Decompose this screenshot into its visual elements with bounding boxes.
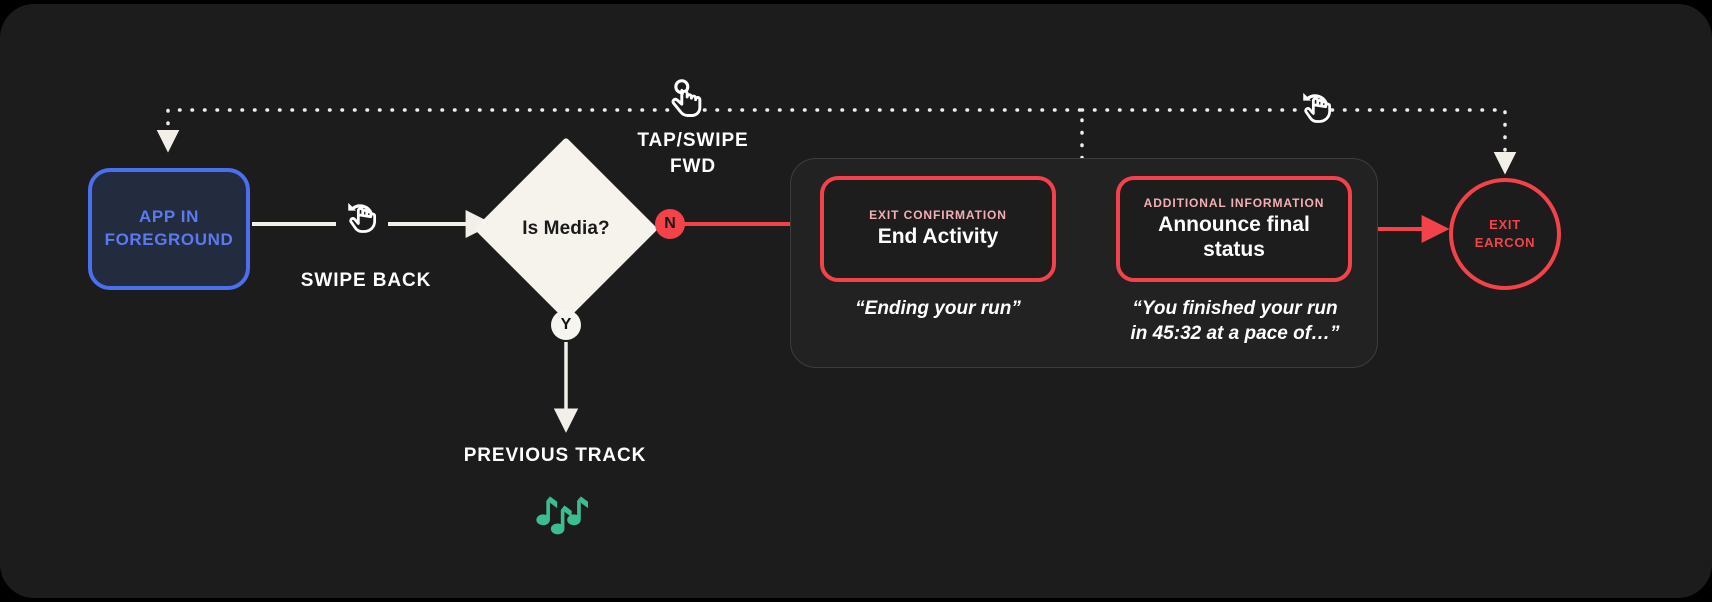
swipe-back-gesture-return-icon bbox=[1295, 86, 1339, 130]
card-exit-confirmation-kicker: EXIT CONFIRMATION bbox=[869, 208, 1007, 222]
tap-gesture-icon bbox=[663, 78, 707, 122]
branch-badge-no: N bbox=[655, 209, 685, 239]
node-app-in-foreground[interactable]: APP IN FOREGROUND bbox=[88, 168, 250, 290]
quote-additional-information: “You finished your run in 45:32 at a pac… bbox=[1110, 297, 1360, 346]
swipe-back-gesture-icon bbox=[340, 196, 384, 240]
label-previous-track: PREVIOUS TRACK bbox=[430, 445, 680, 467]
card-additional-information-kicker: ADDITIONAL INFORMATION bbox=[1144, 196, 1325, 210]
label-tap-swipe-fwd: TAP/SWIPE FWD bbox=[608, 128, 778, 179]
label-swipe-back: SWIPE BACK bbox=[266, 270, 466, 292]
diagram-canvas: APP IN FOREGROUND Is Media? N Y EXIT CON… bbox=[0, 0, 1712, 602]
node-exit-earcon-label: EXIT EARCON bbox=[1475, 216, 1536, 251]
branch-badge-yes: Y bbox=[551, 310, 581, 340]
node-app-in-foreground-label: APP IN FOREGROUND bbox=[105, 206, 234, 252]
node-exit-earcon[interactable]: EXIT EARCON bbox=[1449, 178, 1561, 290]
card-exit-confirmation[interactable]: EXIT CONFIRMATION End Activity bbox=[820, 176, 1056, 282]
quote-exit-confirmation: “Ending your run” bbox=[820, 297, 1056, 322]
card-exit-confirmation-title: End Activity bbox=[878, 225, 999, 250]
music-notes-icon bbox=[530, 492, 588, 546]
card-additional-information[interactable]: ADDITIONAL INFORMATION Announce final st… bbox=[1116, 176, 1352, 282]
card-additional-information-title: Announce final status bbox=[1132, 213, 1336, 263]
